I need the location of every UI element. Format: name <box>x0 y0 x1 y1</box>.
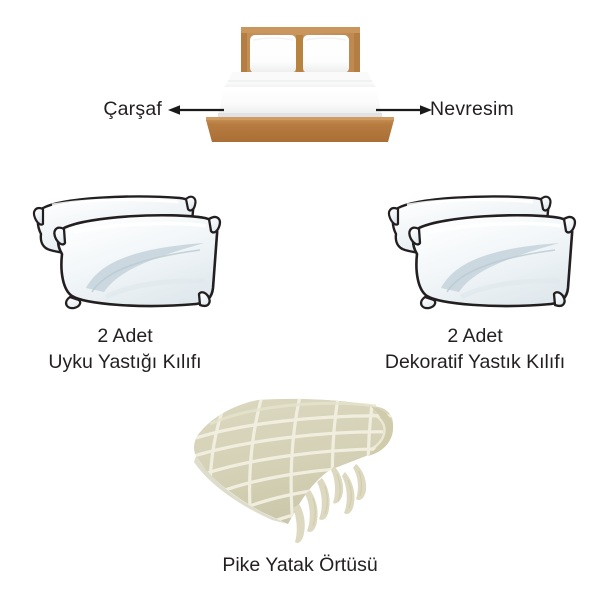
caption-decorative-pillow: 2 Adet Dekoratif Yastık Kılıfı <box>350 323 600 375</box>
caption-sleep-pillow: 2 Adet Uyku Yastığı Kılıfı <box>0 323 250 375</box>
pillow-pair-icon-sleep <box>34 196 220 308</box>
sleep-pillow-count: 2 Adet <box>0 323 250 349</box>
decorative-pillow-name: Dekoratif Yastık Kılıfı <box>350 349 600 375</box>
label-nevresim: Nevresim <box>430 98 514 120</box>
coverlet-name: Pike Yatak Örtüsü <box>175 552 425 578</box>
decorative-pillow-count: 2 Adet <box>350 323 600 349</box>
sleep-pillow-name: Uyku Yastığı Kılıfı <box>0 349 250 375</box>
illustration-stage: Çarşaf Nevresim 2 Adet Uyku Yastığı Kılı… <box>0 0 600 600</box>
pillow-pair-icon-decorative <box>389 196 575 308</box>
bed-duvet-top <box>224 72 376 88</box>
arrow-right-icon <box>376 105 432 115</box>
folded-blanket-icon <box>194 396 398 543</box>
bed-mattress <box>218 87 382 117</box>
caption-coverlet: Pike Yatak Örtüsü <box>175 552 425 578</box>
bed-platform <box>206 117 394 142</box>
bed-illustration <box>0 0 600 600</box>
arrow-left-icon <box>168 105 224 115</box>
label-carsaf: Çarşaf <box>0 98 162 120</box>
